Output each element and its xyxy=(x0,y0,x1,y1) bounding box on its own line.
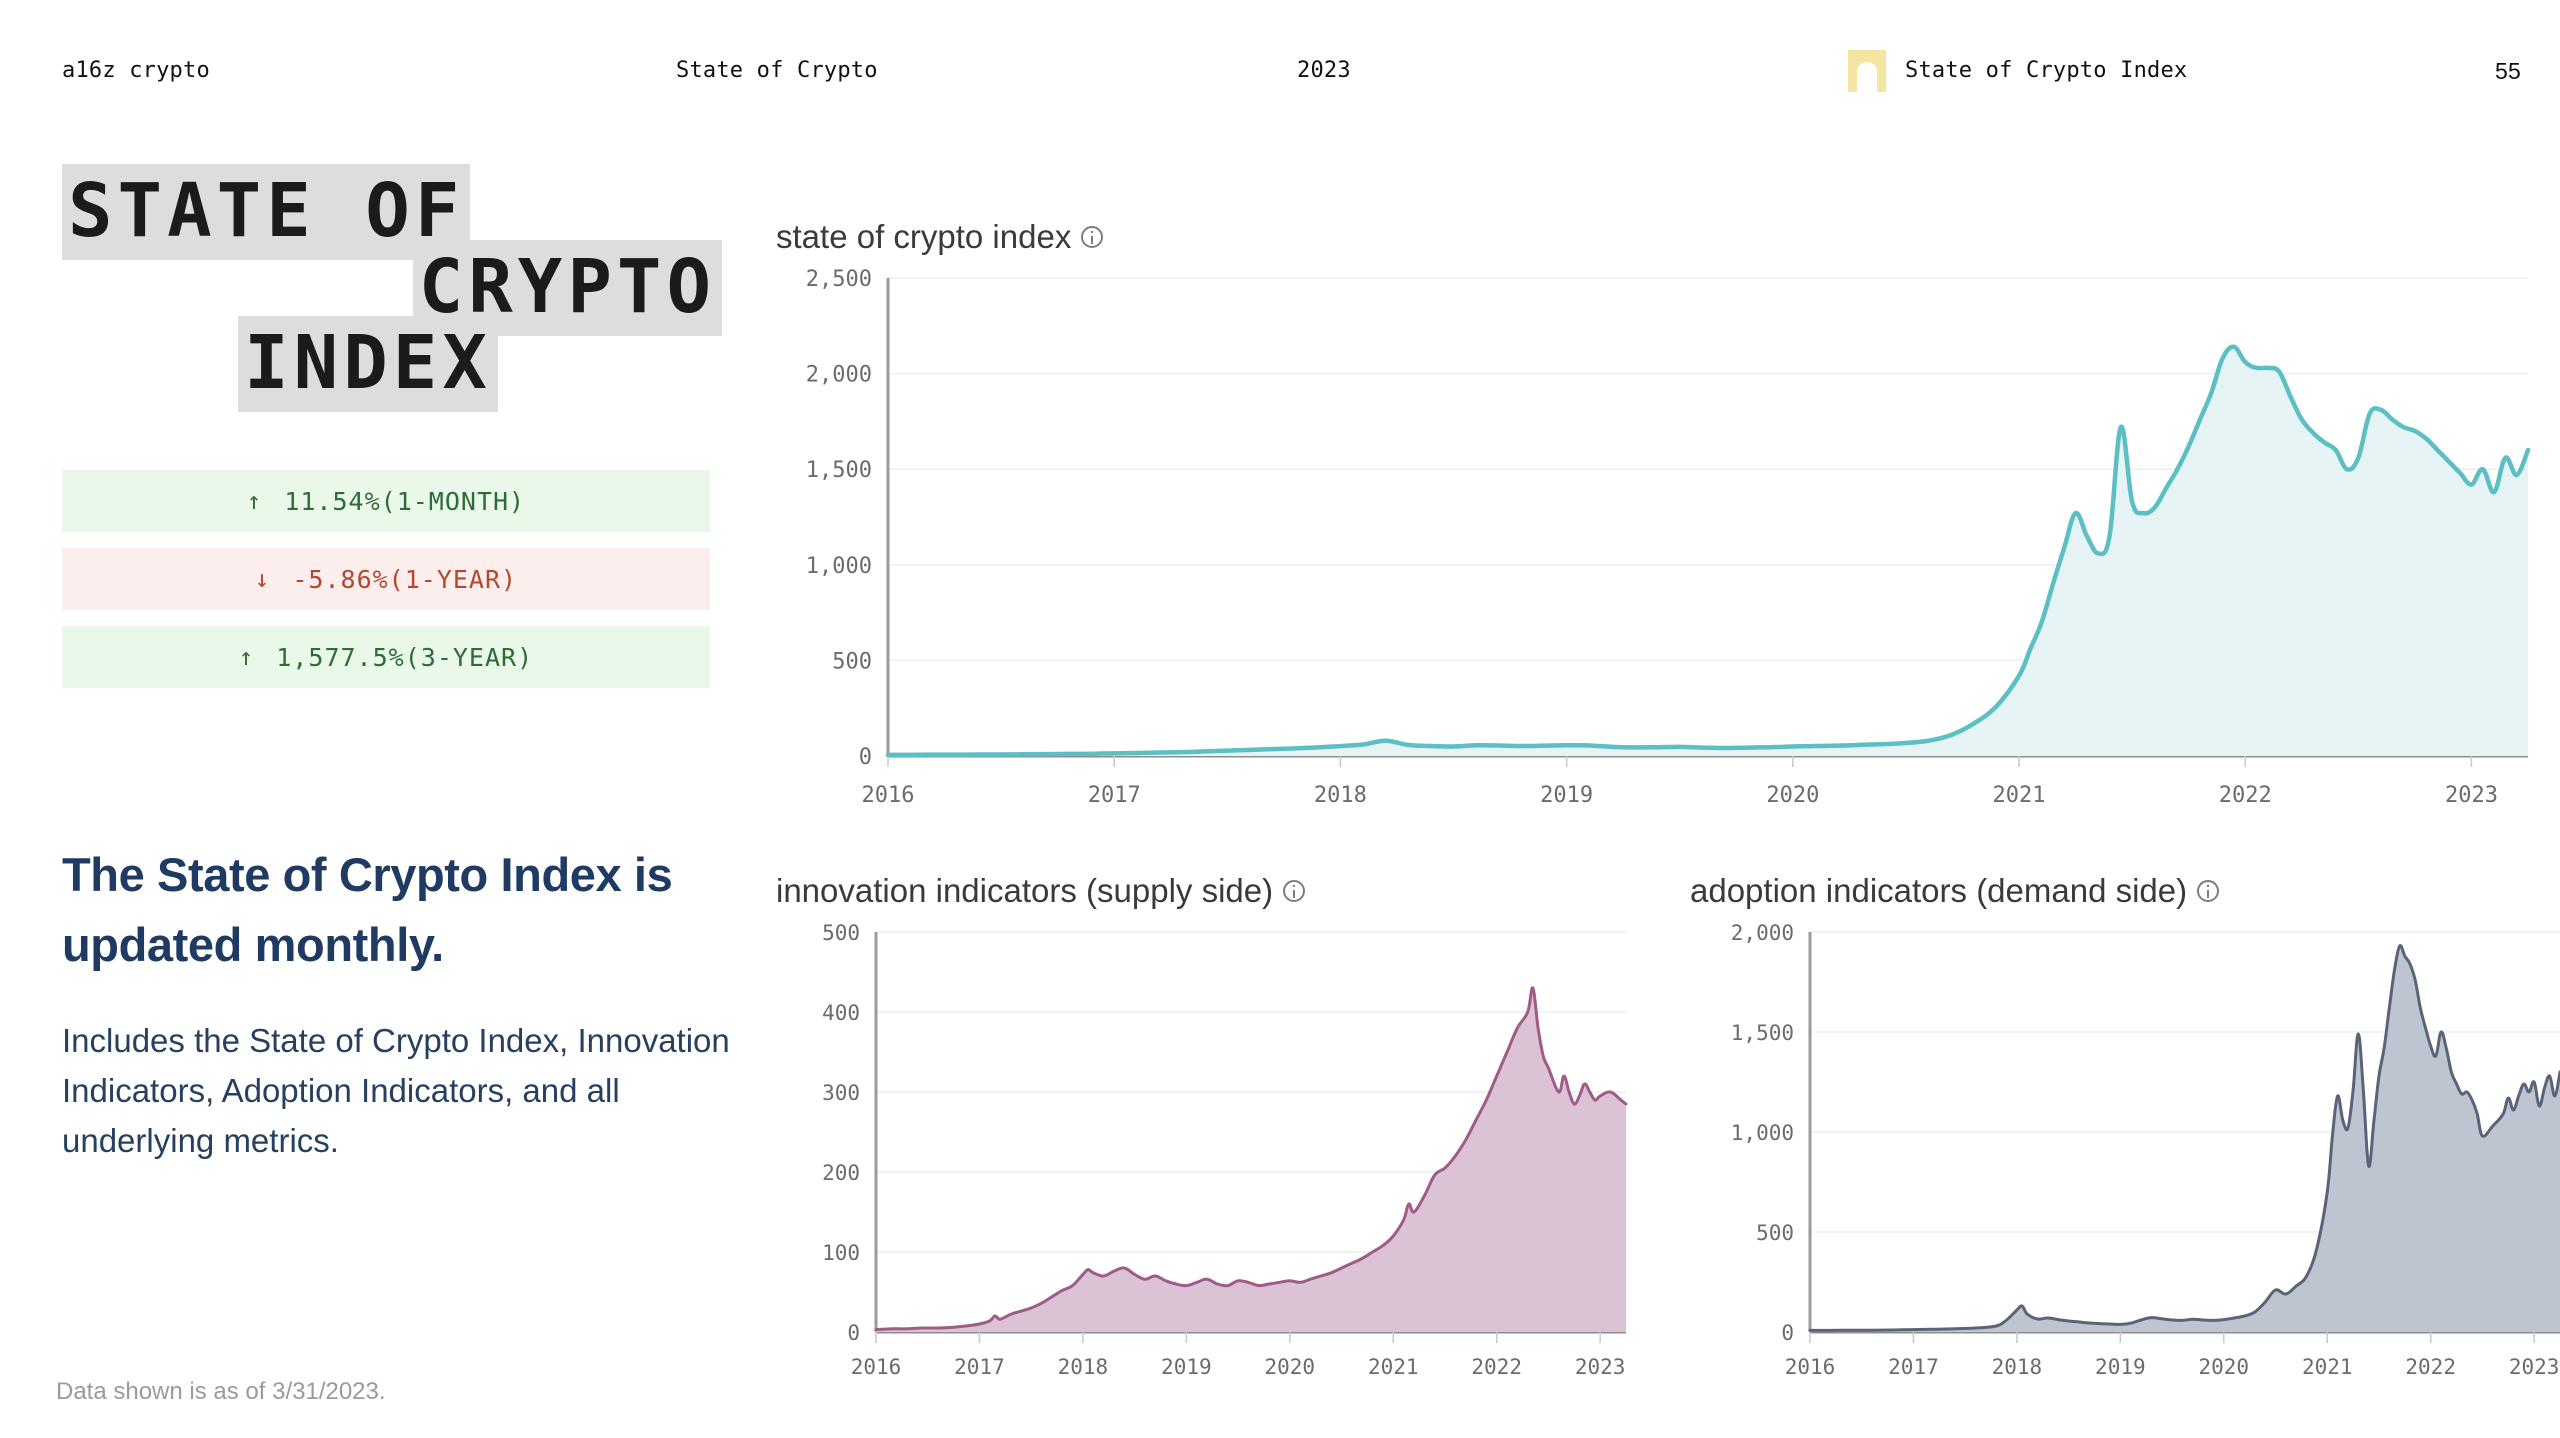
chart-canvas: 05001,0001,5002,000201620172018201920202… xyxy=(1690,910,2560,1390)
svg-text:2018: 2018 xyxy=(1992,1355,2043,1379)
info-icon[interactable] xyxy=(1081,226,1103,248)
svg-text:2016: 2016 xyxy=(851,1355,902,1379)
svg-text:2021: 2021 xyxy=(2302,1355,2353,1379)
svg-text:2021: 2021 xyxy=(1368,1355,1419,1379)
stat-value: 1,577.5% xyxy=(276,643,404,672)
svg-text:1,000: 1,000 xyxy=(1731,1121,1794,1145)
header-year: 2023 xyxy=(1297,58,1351,83)
stat-period: (1-MONTH) xyxy=(381,487,525,516)
chart-title: innovation indicators (supply side) xyxy=(776,872,1636,910)
svg-text:300: 300 xyxy=(822,1081,860,1105)
svg-text:2023: 2023 xyxy=(2509,1355,2560,1379)
svg-text:0: 0 xyxy=(1781,1321,1794,1345)
adoption-indicators-chart: adoption indicators (demand side) 05001,… xyxy=(1690,872,2560,1395)
svg-text:1,000: 1,000 xyxy=(806,554,872,579)
page-number: 55 xyxy=(2495,58,2521,85)
header-brand: a16z crypto xyxy=(62,58,210,83)
stat-value: 11.54% xyxy=(284,487,380,516)
stat-pill-list: ↑ 11.54% (1-MONTH) ↓ -5.86% (1-YEAR) ↑ 1… xyxy=(62,470,710,688)
svg-text:200: 200 xyxy=(822,1161,860,1185)
svg-text:2022: 2022 xyxy=(2219,783,2272,808)
svg-text:2020: 2020 xyxy=(1766,783,1819,808)
svg-text:2016: 2016 xyxy=(862,783,915,808)
svg-text:2019: 2019 xyxy=(1161,1355,1212,1379)
svg-text:500: 500 xyxy=(1756,1221,1794,1245)
svg-text:2023: 2023 xyxy=(2445,783,2498,808)
svg-text:2018: 2018 xyxy=(1314,783,1367,808)
svg-text:2017: 2017 xyxy=(1088,783,1141,808)
info-icon[interactable] xyxy=(2197,880,2219,902)
svg-text:2,000: 2,000 xyxy=(1731,921,1794,945)
svg-text:2017: 2017 xyxy=(954,1355,1005,1379)
svg-text:0: 0 xyxy=(847,1321,860,1345)
stat-period: (3-YEAR) xyxy=(405,643,533,672)
svg-text:2018: 2018 xyxy=(1058,1355,1109,1379)
stat-pill-1-year: ↓ -5.86% (1-YEAR) xyxy=(62,548,710,610)
svg-text:2019: 2019 xyxy=(1540,783,1593,808)
page-title-line-1: STATE OF xyxy=(62,164,470,260)
svg-text:2021: 2021 xyxy=(1993,783,2046,808)
svg-text:500: 500 xyxy=(822,921,860,945)
svg-text:2016: 2016 xyxy=(1785,1355,1836,1379)
svg-text:2020: 2020 xyxy=(1265,1355,1316,1379)
chart-canvas: 05001,0001,5002,0002,5002016201720182019… xyxy=(776,256,2546,816)
svg-text:2,500: 2,500 xyxy=(806,267,872,292)
svg-text:2019: 2019 xyxy=(2095,1355,2146,1379)
stat-period: (1-YEAR) xyxy=(389,565,517,594)
svg-text:0: 0 xyxy=(859,745,872,770)
left-column: STATE OF CRYPTO INDEX ↑ 11.54% (1-MONTH)… xyxy=(62,170,722,1166)
page-title-line-3: INDEX xyxy=(238,316,498,412)
section-headline: The State of Crypto Index is updated mon… xyxy=(62,840,742,980)
header-report-title: State of Crypto xyxy=(676,58,878,83)
svg-text:2017: 2017 xyxy=(1888,1355,1939,1379)
page-header: a16z crypto State of Crypto 2023 State o… xyxy=(0,0,2560,100)
header-section-title: State of Crypto Index xyxy=(1905,58,2187,83)
section-body-text: Includes the State of Crypto Index, Inno… xyxy=(62,1016,732,1166)
svg-text:400: 400 xyxy=(822,1001,860,1025)
stat-pill-1-month: ↑ 11.54% (1-MONTH) xyxy=(62,470,710,532)
info-icon[interactable] xyxy=(1283,880,1305,902)
chart-title-text: adoption indicators (demand side) xyxy=(1690,872,2187,910)
svg-text:2023: 2023 xyxy=(1575,1355,1626,1379)
svg-text:1,500: 1,500 xyxy=(806,458,872,483)
arrow-down-icon: ↓ xyxy=(255,565,270,593)
svg-text:100: 100 xyxy=(822,1241,860,1265)
arrow-up-icon: ↑ xyxy=(239,643,254,671)
innovation-indicators-chart: innovation indicators (supply side) 0100… xyxy=(776,872,1636,1395)
chart-title-text: state of crypto index xyxy=(776,218,1071,256)
svg-text:2022: 2022 xyxy=(1471,1355,1522,1379)
chart-canvas: 0100200300400500201620172018201920202021… xyxy=(776,910,1636,1390)
svg-text:2022: 2022 xyxy=(2405,1355,2456,1379)
stat-pill-3-year: ↑ 1,577.5% (3-YEAR) xyxy=(62,626,710,688)
chart-title: adoption indicators (demand side) xyxy=(1690,872,2560,910)
a16z-crypto-logo-icon xyxy=(1848,50,1886,92)
data-as-of-footnote: Data shown is as of 3/31/2023. xyxy=(56,1378,386,1406)
state-of-crypto-index-chart: state of crypto index 05001,0001,5002,00… xyxy=(776,218,2546,821)
svg-text:500: 500 xyxy=(832,649,872,674)
svg-text:1,500: 1,500 xyxy=(1731,1021,1794,1045)
stat-value: -5.86% xyxy=(292,565,388,594)
page-title: STATE OF CRYPTO INDEX xyxy=(62,170,722,404)
chart-title-text: innovation indicators (supply side) xyxy=(776,872,1273,910)
svg-text:2020: 2020 xyxy=(2199,1355,2250,1379)
svg-text:2,000: 2,000 xyxy=(806,363,872,388)
chart-title: state of crypto index xyxy=(776,218,2546,256)
arrow-up-icon: ↑ xyxy=(247,487,262,515)
